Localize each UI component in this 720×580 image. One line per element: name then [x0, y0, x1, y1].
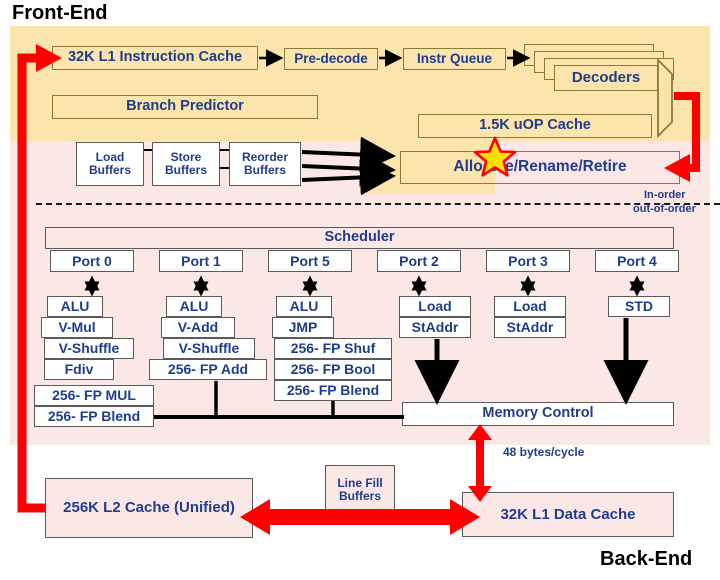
- port-1-label: Port 1: [181, 254, 221, 269]
- memory-control-label: Memory Control: [482, 406, 593, 421]
- p1-unit-alu-label: ALU: [180, 299, 209, 314]
- memory-control-box[interactable]: Memory Control: [402, 402, 674, 426]
- load-buffers-box[interactable]: Load Buffers: [76, 142, 144, 186]
- port-4-label: Port 4: [617, 254, 657, 269]
- p5-unit-fp-shuf[interactable]: 256- FP Shuf: [274, 338, 392, 359]
- back-end-title: Back-End: [600, 548, 692, 571]
- port-1-box[interactable]: Port 1: [159, 250, 243, 272]
- p1-unit-alu[interactable]: ALU: [166, 296, 222, 317]
- p3-unit-staddr[interactable]: StAddr: [494, 317, 566, 338]
- l1-instruction-cache-label: 32K L1 Instruction Cache: [68, 50, 242, 65]
- p0-unit-fp-mul[interactable]: 256- FP MUL: [34, 385, 154, 406]
- p5-unit-fp-blend[interactable]: 256- FP Blend: [274, 380, 392, 401]
- p5-unit-fp-blend-label: 256- FP Blend: [287, 383, 379, 398]
- p0-unit-fp-blend[interactable]: 256- FP Blend: [34, 406, 154, 427]
- scheduler-label: Scheduler: [324, 230, 394, 245]
- port-3-label: Port 3: [508, 254, 548, 269]
- allocate-rename-retire-label: Allocate/Rename/Retire: [453, 159, 626, 175]
- p0-unit-vmul-label: V-Mul: [58, 320, 95, 335]
- uop-cache-label: 1.5K uOP Cache: [479, 118, 591, 133]
- p5-unit-alu-label: ALU: [290, 299, 319, 314]
- p2-unit-staddr[interactable]: StAddr: [399, 317, 471, 338]
- reorder-buffers-label-line2: Buffers: [244, 164, 286, 177]
- p3-unit-load[interactable]: Load: [494, 296, 566, 317]
- uop-cache-box[interactable]: 1.5K uOP Cache: [418, 114, 652, 138]
- instr-queue-box[interactable]: Instr Queue: [403, 48, 506, 70]
- decoders-label: Decoders: [572, 70, 640, 86]
- branch-predictor-label: Branch Predictor: [126, 99, 244, 114]
- allocate-rename-retire-box[interactable]: Allocate/Rename/Retire: [400, 151, 680, 184]
- port-2-box[interactable]: Port 2: [377, 250, 461, 272]
- l1-data-cache-box[interactable]: 32K L1 Data Cache: [462, 492, 674, 537]
- decoders-box[interactable]: Decoders: [554, 65, 658, 91]
- p5-unit-alu[interactable]: ALU: [276, 296, 332, 317]
- p0-unit-alu-label: ALU: [61, 299, 90, 314]
- line-fill-buffers-box[interactable]: Line Fill Buffers: [325, 465, 395, 515]
- p1-unit-vadd-label: V-Add: [178, 320, 218, 335]
- port-3-box[interactable]: Port 3: [486, 250, 570, 272]
- p2-unit-load-label: Load: [418, 299, 451, 314]
- p0-unit-fp-blend-label: 256- FP Blend: [48, 409, 140, 424]
- scheduler-box[interactable]: Scheduler: [45, 227, 674, 249]
- p0-unit-vshuffle[interactable]: V-Shuffle: [44, 338, 134, 359]
- p0-unit-fp-mul-label: 256- FP MUL: [52, 388, 136, 403]
- p4-unit-std[interactable]: STD: [608, 296, 670, 317]
- p4-unit-std-label: STD: [625, 299, 653, 314]
- branch-predictor-box[interactable]: Branch Predictor: [52, 95, 318, 119]
- l1-data-cache-label: 32K L1 Data Cache: [500, 507, 635, 523]
- p5-unit-fp-bool-label: 256- FP Bool: [291, 362, 376, 377]
- p1-unit-fp-add[interactable]: 256- FP Add: [149, 359, 267, 380]
- line-fill-buffers-label-line2: Buffers: [339, 490, 381, 503]
- in-order-boundary-divider: [36, 203, 720, 205]
- p3-unit-staddr-label: StAddr: [507, 320, 554, 335]
- store-buffers-box[interactable]: Store Buffers: [152, 142, 220, 186]
- bandwidth-label: 48 bytes/cycle: [503, 445, 584, 459]
- port-2-label: Port 2: [399, 254, 439, 269]
- p1-unit-vshuffle-label: V-Shuffle: [179, 341, 240, 356]
- p5-unit-fp-bool[interactable]: 256- FP Bool: [274, 359, 392, 380]
- p0-unit-alu[interactable]: ALU: [47, 296, 103, 317]
- p2-unit-staddr-label: StAddr: [412, 320, 459, 335]
- port-5-label: Port 5: [290, 254, 330, 269]
- p0-unit-vmul[interactable]: V-Mul: [41, 317, 113, 338]
- load-buffers-label-line2: Buffers: [89, 164, 131, 177]
- p1-unit-vadd[interactable]: V-Add: [161, 317, 235, 338]
- p2-unit-load[interactable]: Load: [399, 296, 471, 317]
- p5-unit-jmp-label: JMP: [289, 320, 318, 335]
- p5-unit-fp-shuf-label: 256- FP Shuf: [291, 341, 376, 356]
- l2-cache-label: 256K L2 Cache (Unified): [63, 500, 235, 516]
- p0-unit-fdiv-label: Fdiv: [65, 362, 94, 377]
- p1-unit-fp-add-label: 256- FP Add: [168, 362, 248, 377]
- reorder-buffers-box[interactable]: Reorder Buffers: [229, 142, 301, 186]
- port-0-box[interactable]: Port 0: [50, 250, 134, 272]
- store-buffers-label-line2: Buffers: [165, 164, 207, 177]
- cpu-microarchitecture-diagram: Front-End Back-End 32K L1 Instruction Ca…: [0, 0, 720, 580]
- l2-cache-box[interactable]: 256K L2 Cache (Unified): [45, 478, 253, 538]
- p3-unit-load-label: Load: [513, 299, 546, 314]
- p1-unit-vshuffle[interactable]: V-Shuffle: [163, 338, 255, 359]
- pre-decode-box[interactable]: Pre-decode: [284, 48, 378, 70]
- front-end-title: Front-End: [12, 2, 108, 25]
- instr-queue-label: Instr Queue: [417, 52, 492, 66]
- p0-unit-fdiv[interactable]: Fdiv: [44, 359, 114, 380]
- p0-unit-vshuffle-label: V-Shuffle: [59, 341, 120, 356]
- port-0-label: Port 0: [72, 254, 112, 269]
- in-order-label: In-order: [644, 189, 686, 201]
- p5-unit-jmp[interactable]: JMP: [272, 317, 334, 338]
- pre-decode-label: Pre-decode: [294, 52, 368, 66]
- l1-instruction-cache-box[interactable]: 32K L1 Instruction Cache: [52, 46, 258, 70]
- port-5-box[interactable]: Port 5: [268, 250, 352, 272]
- port-4-box[interactable]: Port 4: [595, 250, 679, 272]
